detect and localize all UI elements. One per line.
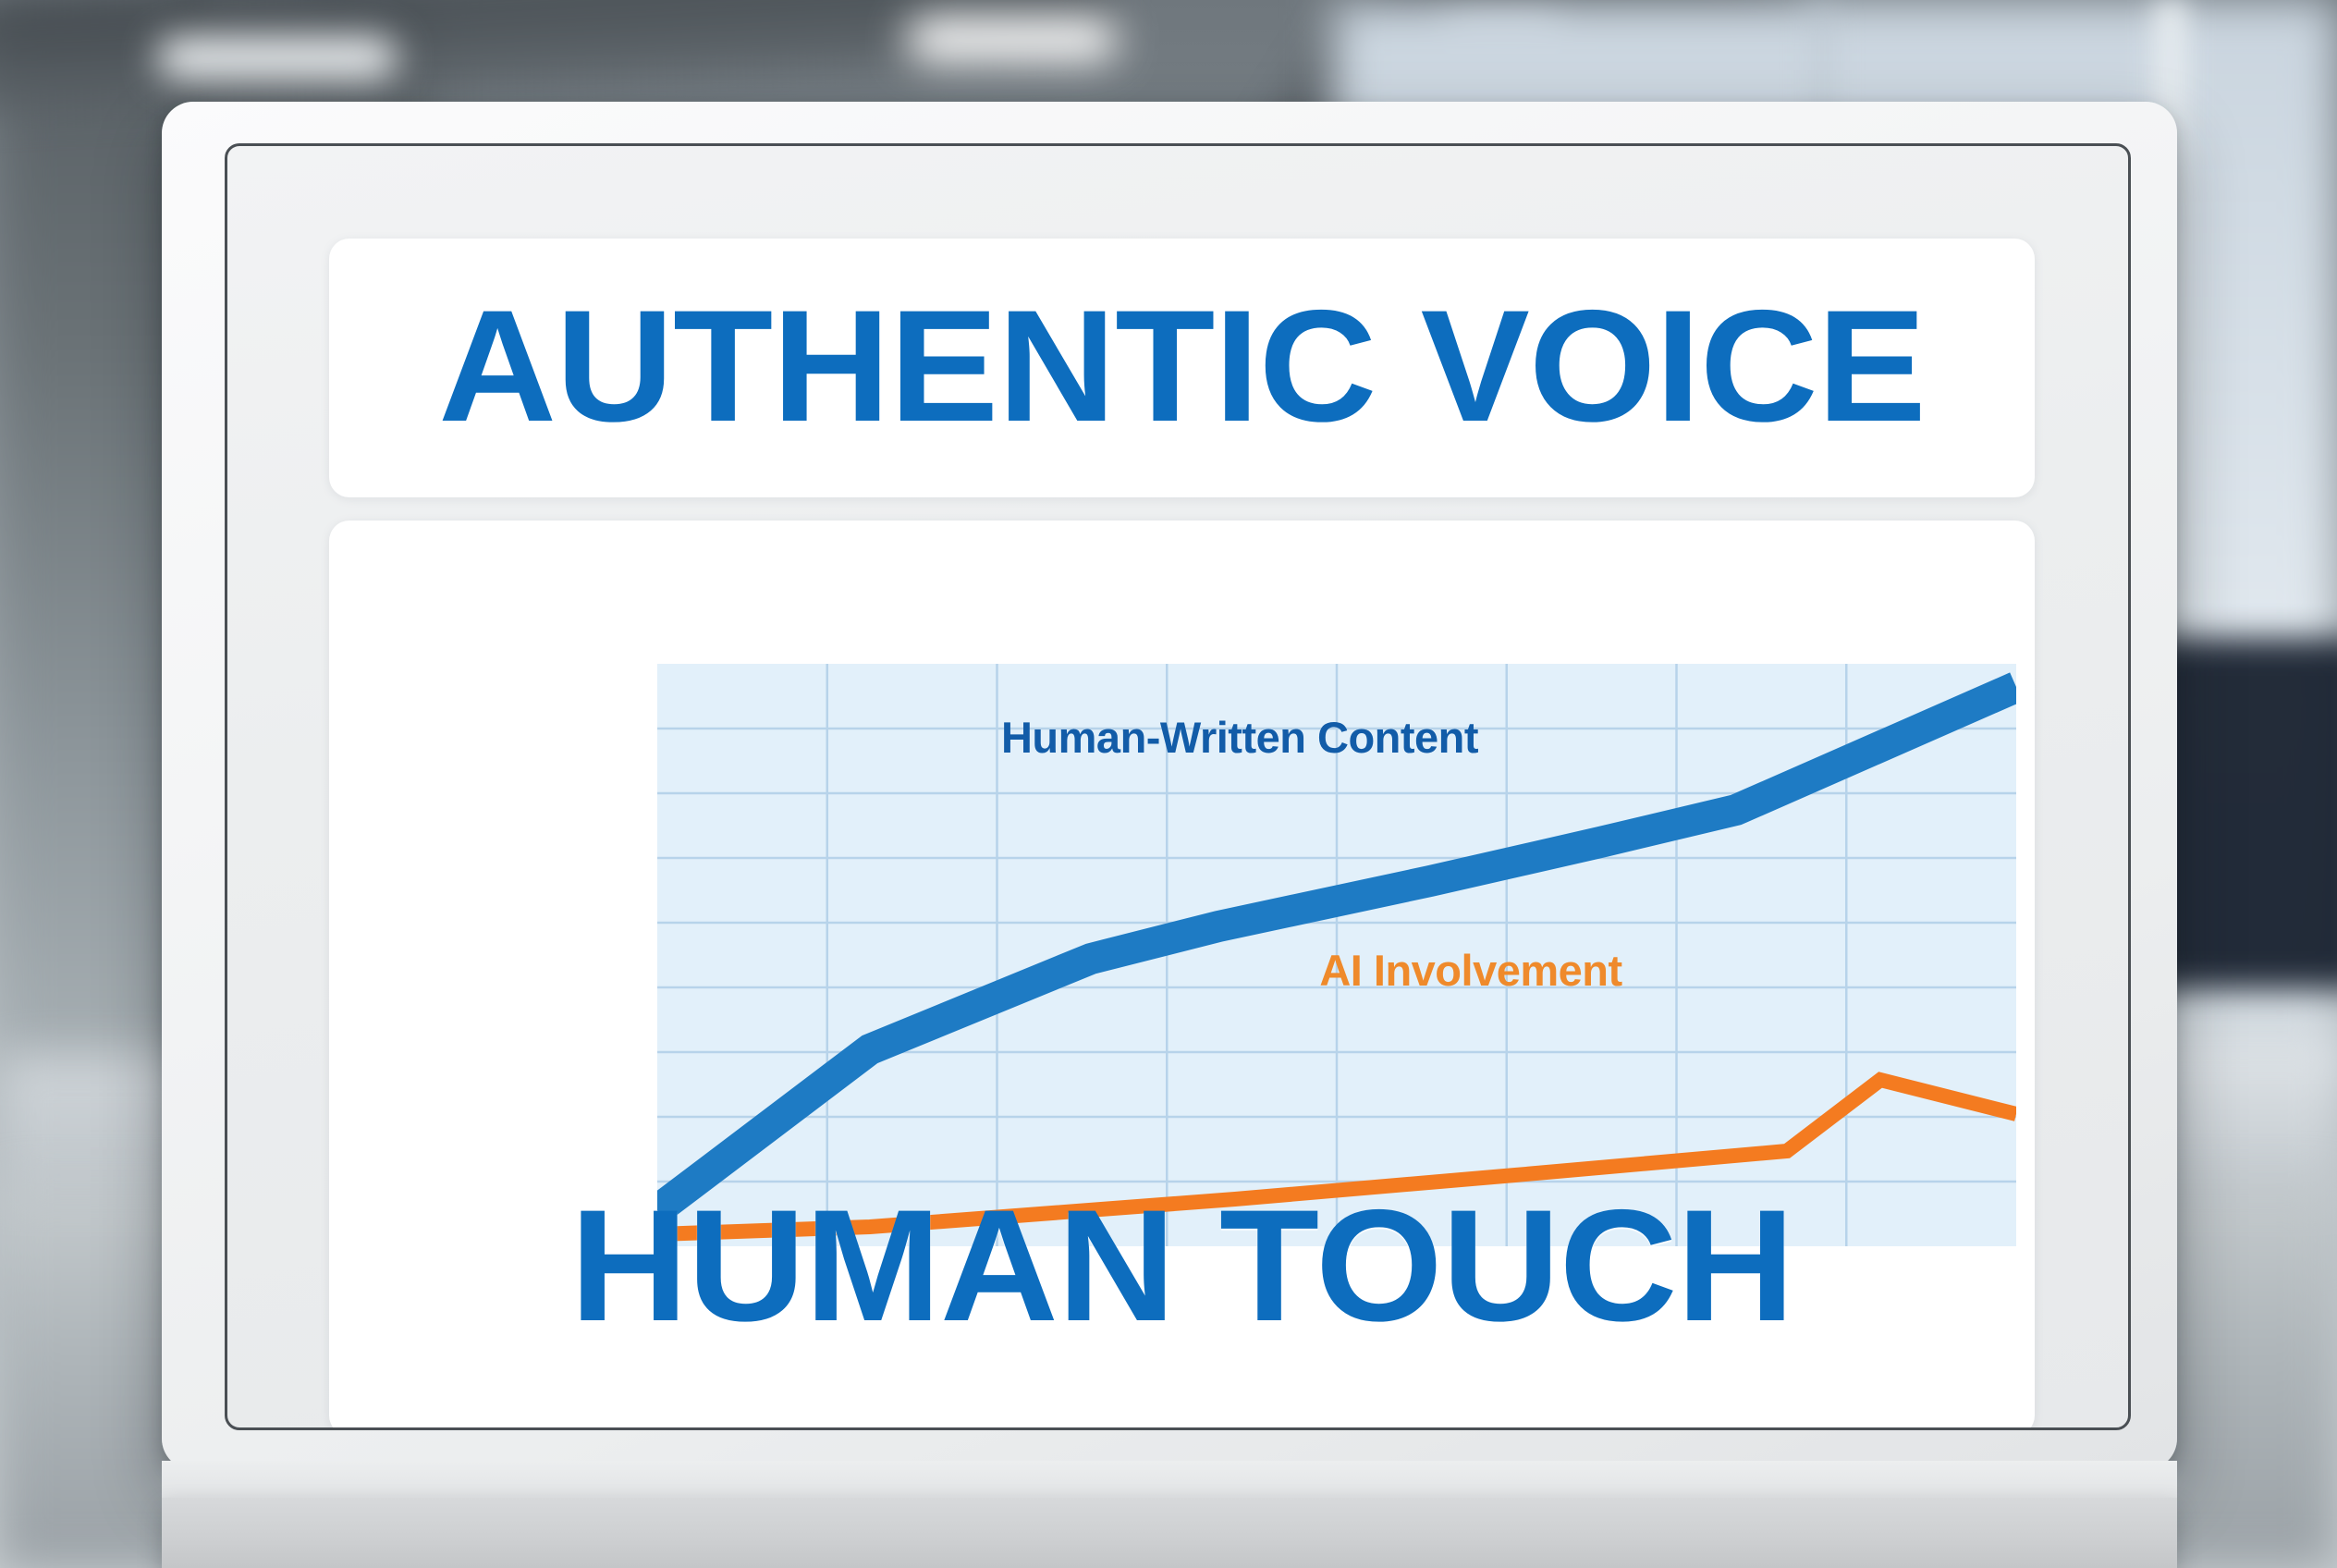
chart-annotation-ai-involvement: AI Involvement bbox=[1319, 946, 1622, 995]
chart-annotation-human-written-content: Human-Written Content bbox=[1001, 713, 1479, 762]
line-chart: Human-Written Content AI Involvement bbox=[657, 664, 2016, 1246]
background-ceiling-light-2 bbox=[906, 17, 1119, 63]
content-card: Human-Written Content AI Involvement HUM… bbox=[329, 521, 2035, 1430]
page-title: AUTHENTIC VOICE bbox=[303, 287, 2060, 446]
title-card: AUTHENTIC VOICE bbox=[329, 239, 2035, 497]
background-ceiling-light-1 bbox=[157, 37, 398, 80]
monitor-screen: AUTHENTIC VOICE bbox=[225, 143, 2131, 1430]
page-footer-title: HUMAN TOUCH bbox=[303, 1186, 2060, 1345]
monitor-stand-base bbox=[162, 1498, 2177, 1568]
chart-canvas: Human-Written Content AI Involvement bbox=[657, 664, 2016, 1246]
monitor-bezel: AUTHENTIC VOICE bbox=[162, 102, 2177, 1470]
